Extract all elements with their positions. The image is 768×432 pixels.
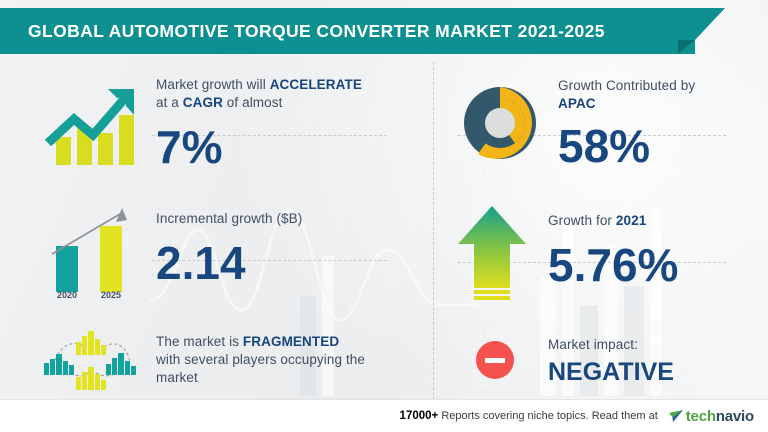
cagr-caption-post: of almost: [223, 95, 283, 110]
growth-2021-caption-pre: Growth for: [548, 213, 616, 228]
column-divider: [433, 62, 434, 400]
apac-caption-line2: APAC: [558, 95, 695, 113]
incremental-growth-value: 2.14: [156, 240, 302, 286]
cagr-caption-bold: ACCELERATE: [270, 77, 362, 92]
growth-chart-icon: [30, 75, 148, 171]
fragmented-market-icon: [30, 327, 148, 393]
apac-value: 58%: [558, 123, 695, 169]
no-entry-icon: [452, 337, 538, 383]
fragmented-caption-bold: FRAGMENTED: [243, 334, 339, 349]
fragmented-caption-pre: The market is: [156, 334, 243, 349]
infographic-canvas: GLOBAL AUTOMOTIVE TORQUE CONVERTER MARKE…: [0, 0, 768, 432]
cagr-caption-line2: at a CAGR of almost: [156, 94, 362, 112]
footer-report-count: 17000+: [400, 410, 439, 422]
stat-row-growth-2021: Growth for 2021 5.76%: [452, 198, 762, 306]
stat-row-fragmented: The market is FRAGMENTED with several pl…: [30, 324, 430, 396]
apac-caption-bold: APAC: [558, 96, 596, 111]
technavio-logo-navio: navio: [716, 408, 754, 425]
technavio-mark-icon: [668, 409, 684, 424]
cagr-caption-pre: Market growth will: [156, 77, 270, 92]
market-impact-value: NEGATIVE: [548, 360, 674, 385]
apac-caption-line1: Growth Contributed by: [558, 77, 695, 95]
footer-caption: Reports covering niche topics. Read them…: [441, 410, 657, 422]
technavio-logo-tech: tech: [686, 408, 716, 425]
footer-bar: 17000+ Reports covering niche topics. Re…: [0, 400, 768, 432]
fragmented-caption-line2: with several players occupying the: [156, 351, 365, 369]
up-arrow-icon: [452, 200, 538, 304]
technavio-logo[interactable]: technavio: [668, 408, 754, 425]
growth-2021-value: 5.76%: [548, 242, 678, 288]
growth-2021-caption: Growth for 2021: [548, 212, 678, 230]
donut-chart-icon: [452, 75, 548, 171]
market-impact-caption: Market impact:: [548, 336, 674, 354]
cagr-caption-line1: Market growth will ACCELERATE: [156, 76, 362, 94]
fragmented-caption-line1: The market is FRAGMENTED: [156, 333, 365, 351]
cagr-caption-pre2: at a: [156, 95, 183, 110]
cagr-value: 7%: [156, 124, 362, 170]
footer-text: 17000+ Reports covering niche topics. Re…: [400, 410, 658, 422]
header-ribbon-corner: [695, 8, 725, 40]
stat-row-apac: Growth Contributed by APAC 58%: [452, 68, 762, 178]
fragmented-caption-line3: market: [156, 369, 365, 387]
page-title: GLOBAL AUTOMOTIVE TORQUE CONVERTER MARKE…: [28, 8, 605, 54]
stat-row-cagr: Market growth will ACCELERATE at a CAGR …: [30, 68, 430, 178]
stat-row-market-impact: Market impact: NEGATIVE: [452, 330, 762, 390]
bar-label-2020: 2020: [52, 290, 82, 300]
cagr-caption-bold2: CAGR: [183, 95, 223, 110]
incremental-growth-label: Incremental growth ($B): [156, 210, 302, 228]
header-ribbon-fold: [678, 40, 695, 54]
stat-row-incremental-growth: 2020 2025 Incremental growth ($B) 2.14: [30, 196, 430, 304]
growth-2021-caption-bold: 2021: [616, 213, 646, 228]
bar-growth-icon: 2020 2025: [30, 198, 148, 302]
bar-label-2025: 2025: [96, 290, 126, 300]
